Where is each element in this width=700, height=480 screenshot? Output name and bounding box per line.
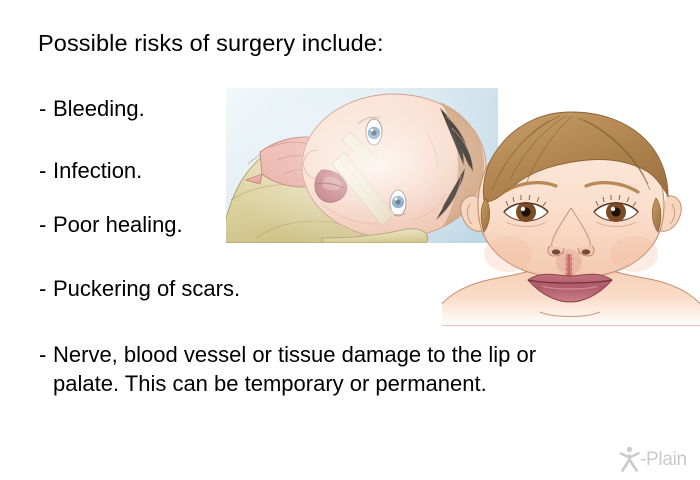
x-plain-logo: -Plain — [619, 445, 693, 473]
slide-canvas: Possible risks of surgery include: -Blee… — [0, 0, 700, 480]
illustration-infant-after-repair — [442, 104, 700, 326]
list-item: -Infection. — [39, 156, 142, 185]
bullet-marker: - — [39, 156, 53, 185]
bullet-marker: - — [39, 94, 53, 123]
logo-text: -Plain — [640, 450, 687, 469]
list-item: -Bleeding. — [39, 94, 145, 123]
bullet-text: Infection. — [53, 158, 142, 183]
list-item: -Poor healing. — [39, 210, 183, 239]
bullet-text: Nerve, blood vessel or tissue damage to … — [53, 340, 608, 398]
bullet-text: Bleeding. — [53, 96, 145, 121]
bullet-marker: - — [39, 274, 53, 303]
infant-front-view-graphic — [442, 104, 700, 326]
list-item: -Puckering of scars. — [39, 274, 240, 303]
bullet-text: Puckering of scars. — [53, 276, 240, 301]
x-plain-figure-icon — [619, 446, 641, 472]
bullet-marker: - — [39, 210, 53, 239]
bullet-marker: - — [39, 340, 53, 369]
page-title: Possible risks of surgery include: — [38, 30, 384, 57]
list-item: -Nerve, blood vessel or tissue damage to… — [39, 340, 619, 398]
bullet-text: Poor healing. — [53, 212, 183, 237]
